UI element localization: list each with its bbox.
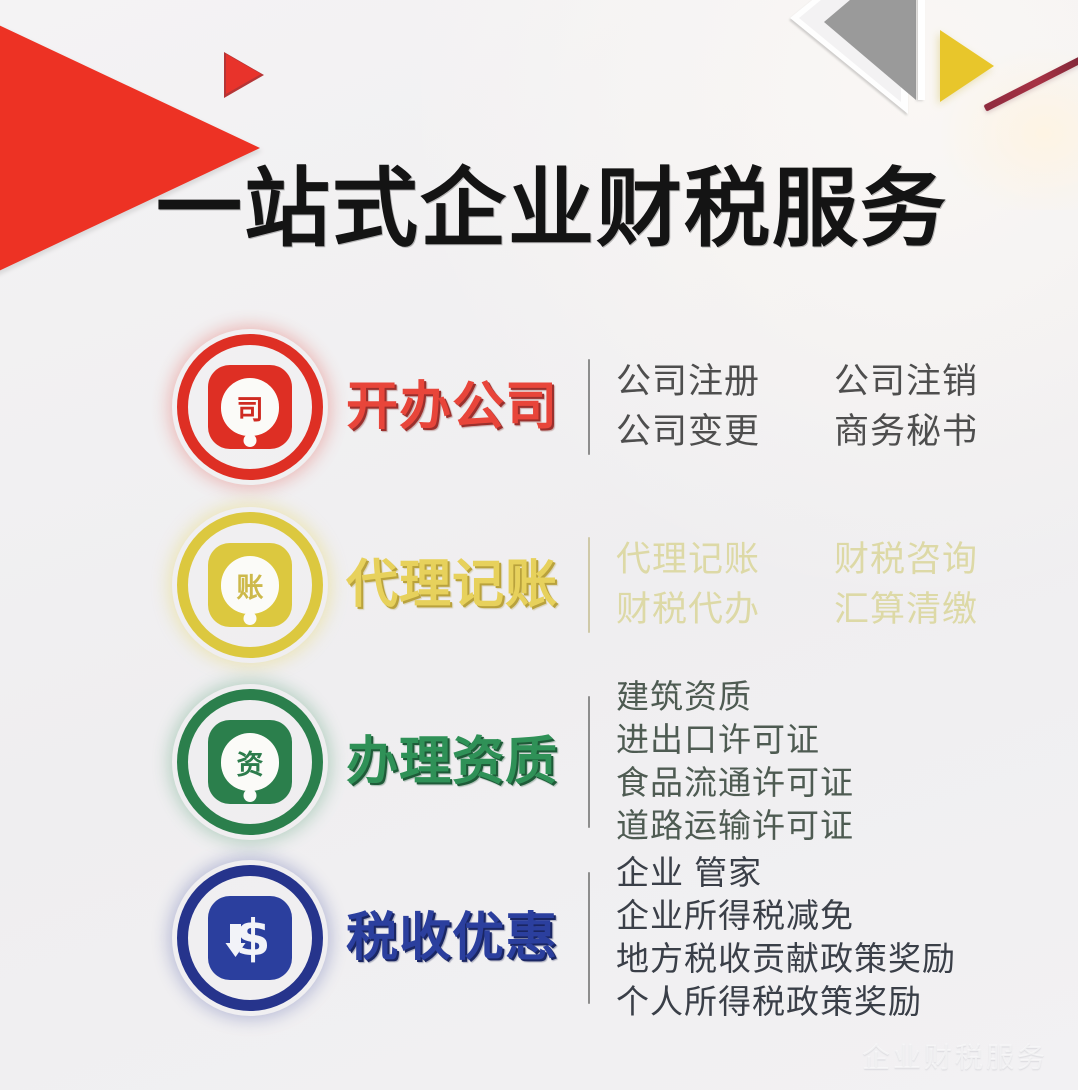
service-divider: [588, 872, 590, 1004]
service-item[interactable]: 公司注册: [616, 357, 792, 407]
service-divider: [588, 359, 590, 455]
service-heading: 税收优惠: [346, 912, 578, 964]
dollar-down-arrow-icon: $: [177, 865, 323, 1011]
seal-glyph: 司: [221, 378, 279, 436]
company-seal-icon: 司: [177, 334, 323, 480]
service-items: 代理记账 财税咨询 财税代办 汇算清缴: [616, 535, 1010, 636]
service-row-bookkeeping[interactable]: 账 代理记账 代理记账 财税咨询 财税代办 汇算清缴: [0, 496, 1078, 674]
service-heading: 开办公司: [346, 381, 578, 433]
service-item[interactable]: 公司变更: [616, 407, 792, 457]
service-item[interactable]: 财税咨询: [834, 535, 1010, 585]
poster-canvas: 一站式企业财税服务 司 开办公司 公司注册 公司注销 公司变更: [0, 0, 1078, 1090]
yellow-triangle-icon: [940, 30, 994, 102]
page-title: 一站式企业财税服务: [0, 166, 1078, 252]
watermark: 企业财税服务: [862, 1036, 1048, 1076]
service-items: 企业 管家 企业所得税减免 地方税收贡献政策奖励 个人所得税政策奖励: [616, 852, 956, 1024]
service-row-start-company[interactable]: 司 开办公司 公司注册 公司注销 公司变更 商务秘书: [0, 318, 1078, 496]
service-row-qualifications[interactable]: 资 办理资质 建筑资质 进出口许可证 食品流通许可证 道路运输许可证: [0, 674, 1078, 850]
service-list: 司 开办公司 公司注册 公司注销 公司变更 商务秘书: [0, 318, 1078, 1026]
service-item[interactable]: 企业所得税减免: [616, 895, 956, 938]
ledger-seal-icon: 账: [177, 512, 323, 658]
service-icon-wrap: $: [168, 865, 332, 1011]
service-item[interactable]: 食品流通许可证: [616, 762, 854, 805]
service-heading: 办理资质: [346, 736, 578, 788]
service-item[interactable]: 地方税收贡献政策奖励: [616, 938, 956, 981]
service-item[interactable]: 个人所得税政策奖励: [616, 981, 956, 1024]
service-icon-wrap: 资: [168, 689, 332, 835]
service-item[interactable]: 公司注销: [834, 357, 1010, 407]
service-icon-wrap: 司: [168, 334, 332, 480]
service-item-line: 代理记账 财税咨询: [616, 535, 1010, 585]
seal-plate: 资: [208, 720, 292, 804]
service-item[interactable]: 进出口许可证: [616, 719, 854, 762]
service-item-line: 公司注册 公司注销: [616, 357, 1010, 407]
seal-glyph: 资: [221, 733, 279, 791]
grey-triangle-icon: [824, 0, 916, 100]
seal-plate: 司: [208, 365, 292, 449]
service-item[interactable]: 代理记账: [616, 535, 792, 585]
dollar-down-arrow-glyph: $: [219, 907, 281, 969]
service-divider: [588, 696, 590, 828]
service-item[interactable]: 建筑资质: [616, 676, 854, 719]
service-item-line: 公司变更 商务秘书: [616, 407, 1010, 457]
service-item[interactable]: 汇算清缴: [834, 585, 1010, 635]
service-heading: 代理记账: [346, 559, 578, 611]
service-icon-wrap: 账: [168, 512, 332, 658]
service-item[interactable]: 财税代办: [616, 585, 792, 635]
service-divider: [588, 537, 590, 633]
service-items: 公司注册 公司注销 公司变更 商务秘书: [616, 357, 1010, 458]
service-row-tax-benefits[interactable]: $ 税收优惠 企业 管家 企业所得税减免 地方税收贡献政策奖励 个人所得税政策奖…: [0, 850, 1078, 1026]
red-triangle-small-icon: [226, 54, 261, 94]
seal-plate: $: [208, 896, 292, 980]
service-item[interactable]: 企业 管家: [616, 852, 956, 895]
service-item[interactable]: 商务秘书: [834, 407, 1010, 457]
qualification-seal-icon: 资: [177, 689, 323, 835]
service-items: 建筑资质 进出口许可证 食品流通许可证 道路运输许可证: [616, 676, 854, 848]
seal-glyph: 账: [221, 556, 279, 614]
service-item-line: 财税代办 汇算清缴: [616, 585, 1010, 635]
service-item[interactable]: 道路运输许可证: [616, 805, 854, 848]
white-bar-decoration: [918, 0, 925, 100]
seal-plate: 账: [208, 543, 292, 627]
